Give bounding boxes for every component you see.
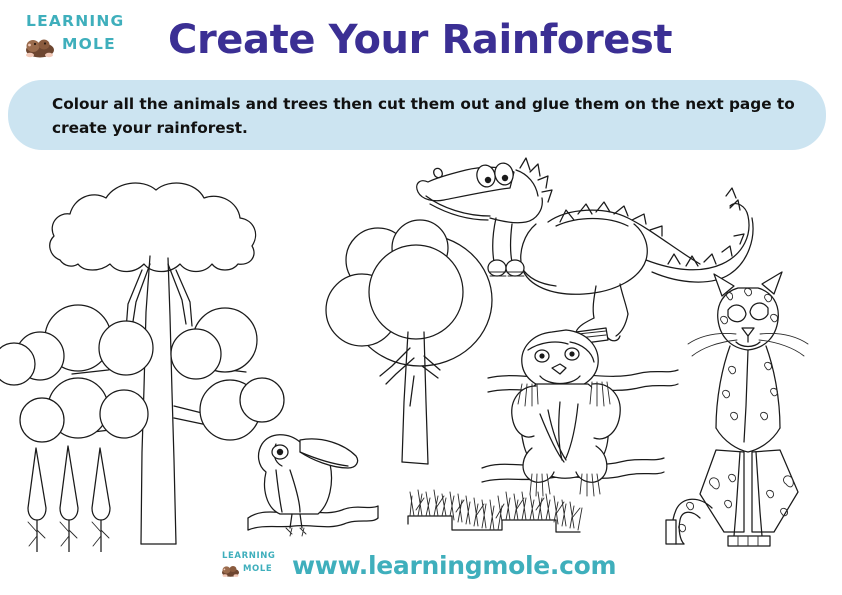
instruction-banner: Colour all the animals and trees then cu…	[8, 80, 826, 150]
mole-icon	[221, 563, 241, 577]
mole-icon	[24, 34, 58, 58]
page-header: LEARNING MOLE Create Your Rainforest	[0, 0, 842, 78]
round-canopy-tree[interactable]	[326, 220, 492, 464]
footer-brand-logo[interactable]: LEARNING MOLE	[220, 550, 288, 582]
toucan[interactable]	[248, 435, 378, 536]
worksheet-page: LEARNING MOLE Create Your Rainforest Col…	[0, 0, 842, 595]
jaguar[interactable]	[666, 272, 808, 546]
artwork-area	[0, 152, 842, 552]
brand-logo-line1: LEARNING	[26, 14, 124, 30]
instruction-text: Colour all the animals and trees then cu…	[52, 92, 802, 140]
footer-url[interactable]: www.learningmole.com	[292, 551, 616, 581]
footer-logo-line2: MOLE	[243, 565, 272, 574]
small-leaf-plants[interactable]	[28, 446, 110, 552]
footer-logo-line1: LEARNING	[222, 552, 276, 561]
brand-logo-line2: MOLE	[62, 37, 116, 53]
artwork-svg	[0, 152, 842, 552]
page-footer: LEARNING MOLE www.learningmole.com	[0, 545, 842, 595]
page-title: Create Your Rainforest	[168, 14, 768, 66]
grass-patch[interactable]	[408, 490, 582, 532]
sloth[interactable]	[482, 330, 678, 496]
brand-logo[interactable]: LEARNING MOLE	[22, 12, 132, 64]
